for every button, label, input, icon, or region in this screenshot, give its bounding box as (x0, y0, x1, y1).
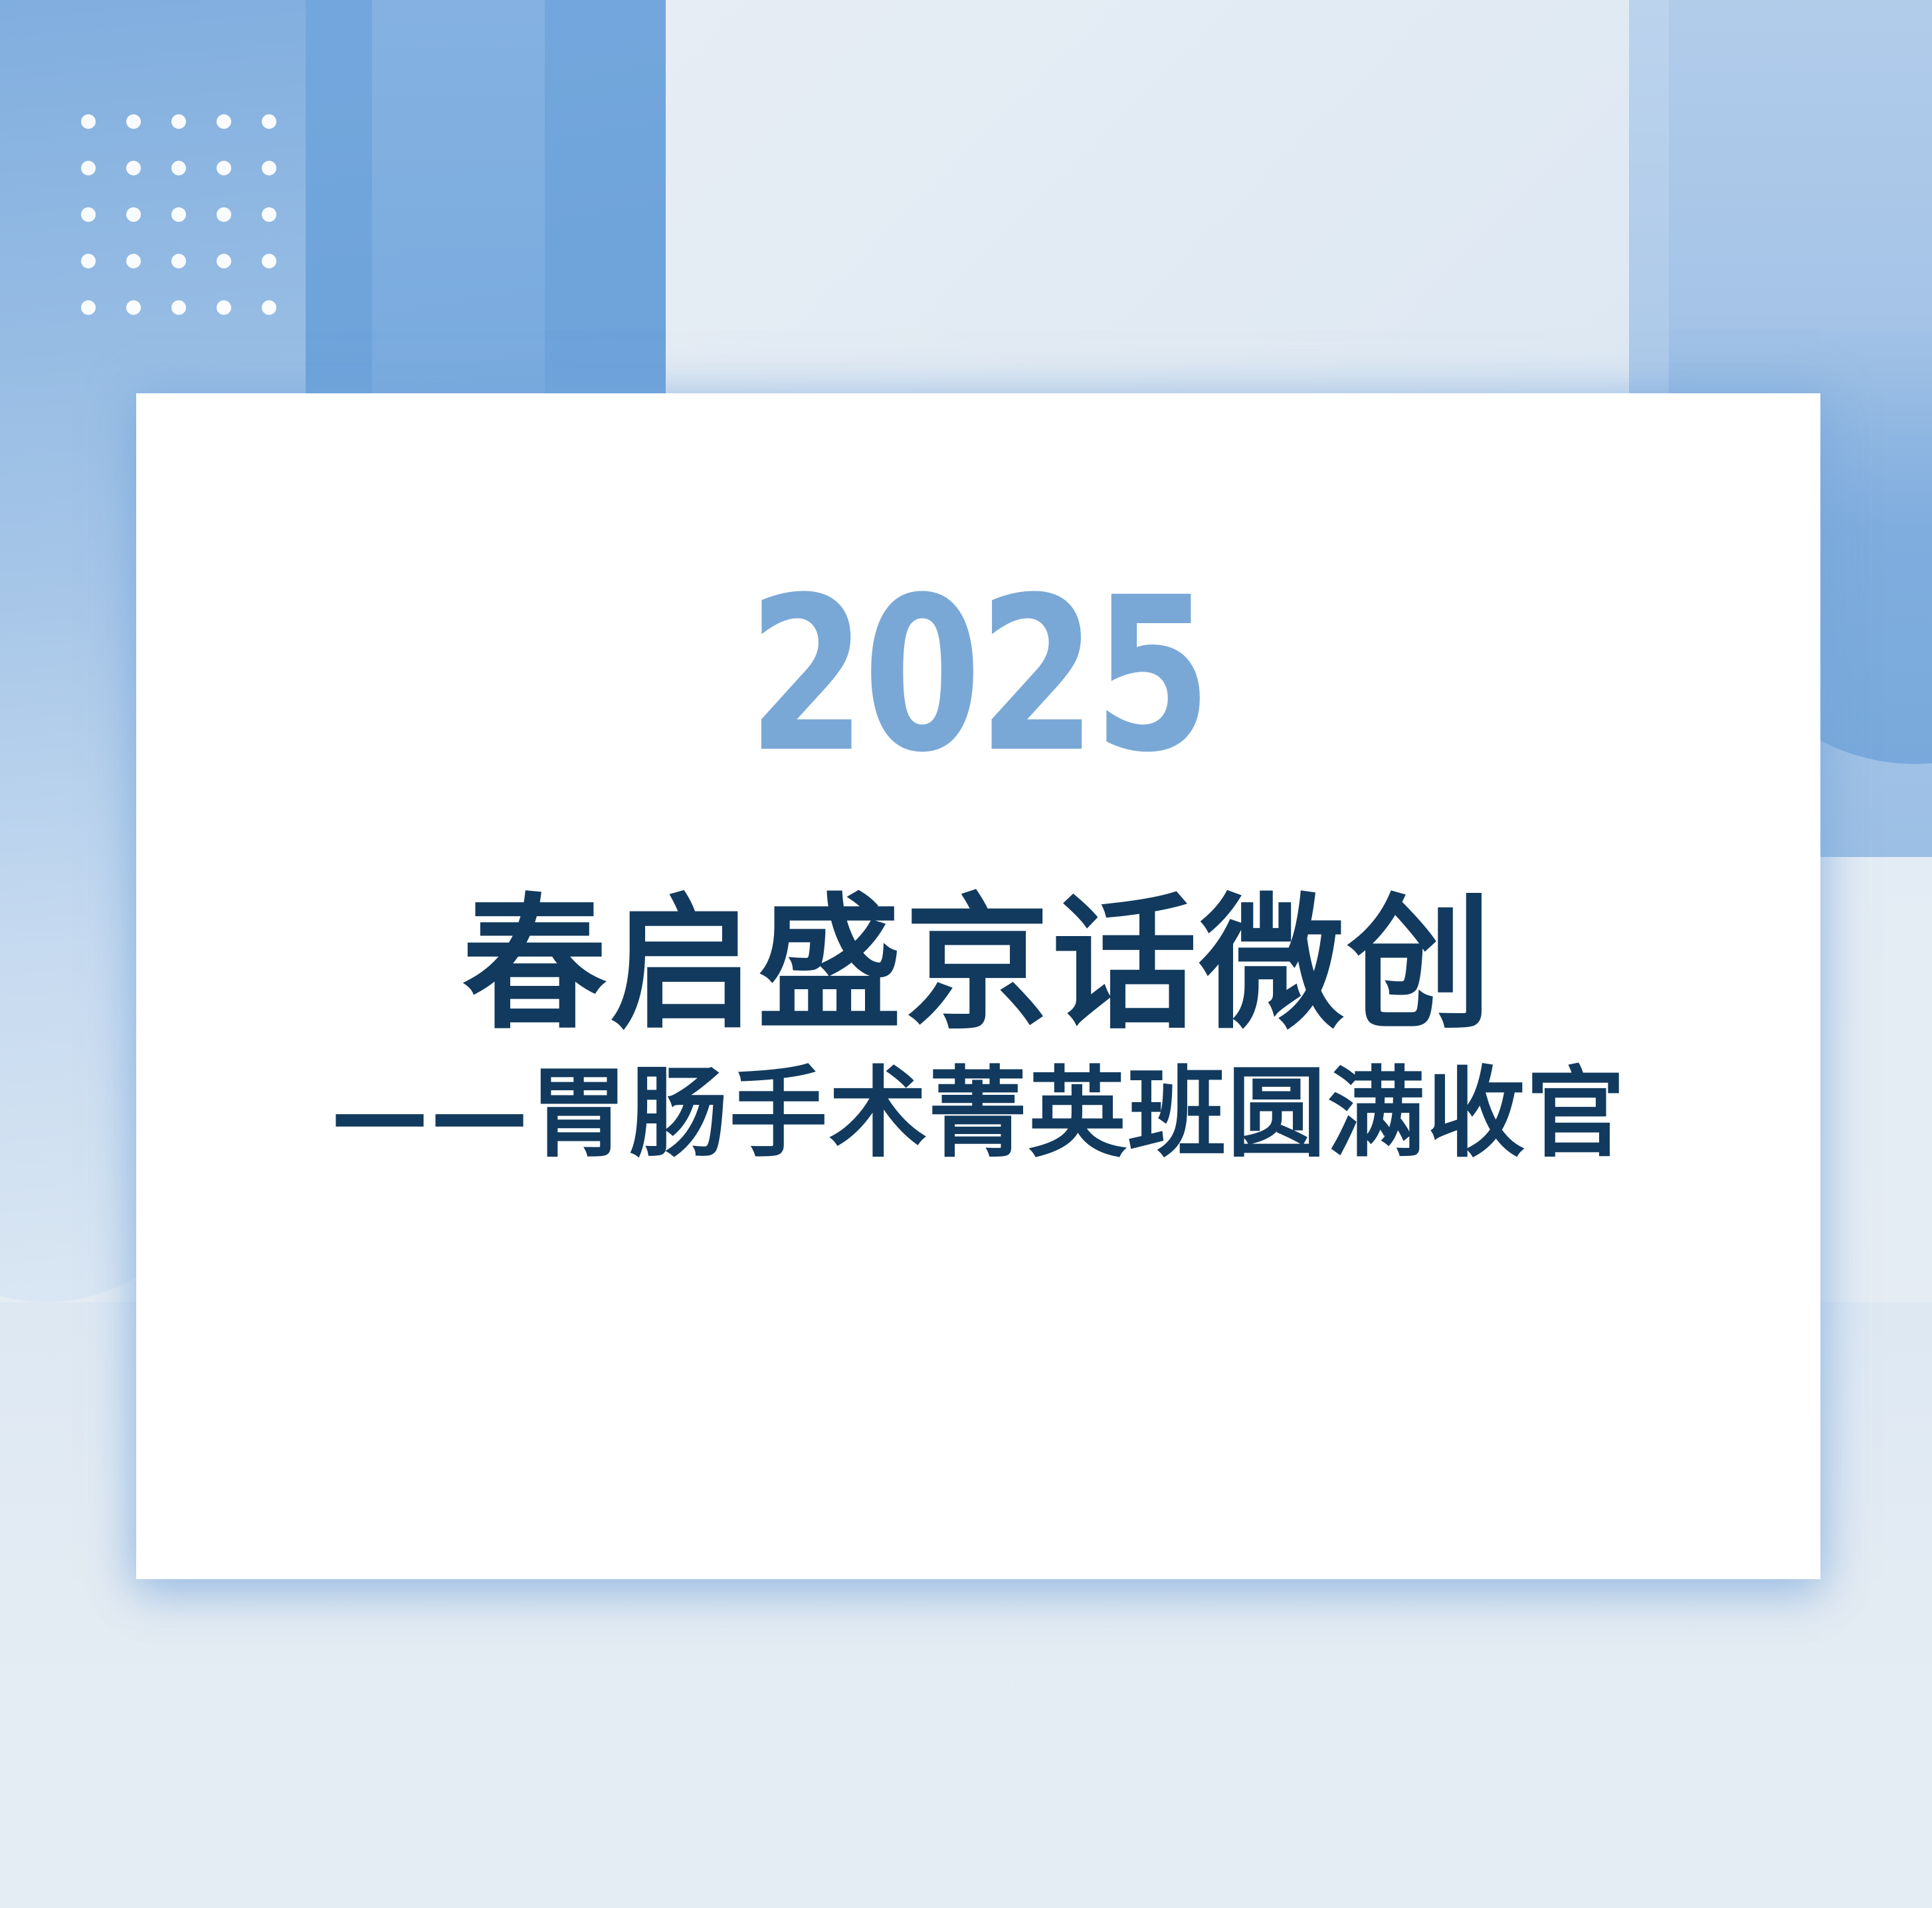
year-label: 2025 (748, 578, 1208, 773)
grid-dot (126, 207, 141, 222)
grid-dot (217, 300, 231, 315)
pale-rectangle-shape (651, 0, 1634, 445)
grid-dot (81, 114, 96, 129)
card-content: 2025 春启盛京话微创 ——胃肠手术菁英班圆满收官 (136, 393, 1820, 1579)
page-subtitle: ——胃肠手术菁英班圆满收官 (331, 1062, 1626, 1165)
grid-dot (81, 207, 96, 222)
grid-dot (171, 300, 186, 315)
grid-dot (262, 254, 276, 268)
content-card: 2025 春启盛京话微创 ——胃肠手术菁英班圆满收官 (136, 393, 1820, 1579)
grid-dot (217, 207, 231, 222)
grid-dot (262, 114, 276, 129)
page-title: 春启盛京话微创 (462, 892, 1495, 1039)
dot-grid-pattern (81, 114, 276, 315)
grid-dot (126, 114, 141, 129)
grid-dot (217, 114, 231, 129)
grid-dot (81, 254, 96, 268)
grid-dot (126, 300, 141, 315)
grid-dot (171, 161, 186, 175)
grid-dot (81, 300, 96, 315)
grid-dot (126, 161, 141, 175)
poster-canvas: 2025 春启盛京话微创 ——胃肠手术菁英班圆满收官 (0, 0, 1932, 1908)
grid-dot (171, 254, 186, 268)
grid-dot (262, 207, 276, 222)
grid-dot (217, 161, 231, 175)
grid-dot (81, 161, 96, 175)
grid-dot (217, 254, 231, 268)
grid-dot (171, 114, 186, 129)
grid-dot (262, 161, 276, 175)
grid-dot (126, 254, 141, 268)
grid-dot (262, 300, 276, 315)
grid-dot (171, 207, 186, 222)
